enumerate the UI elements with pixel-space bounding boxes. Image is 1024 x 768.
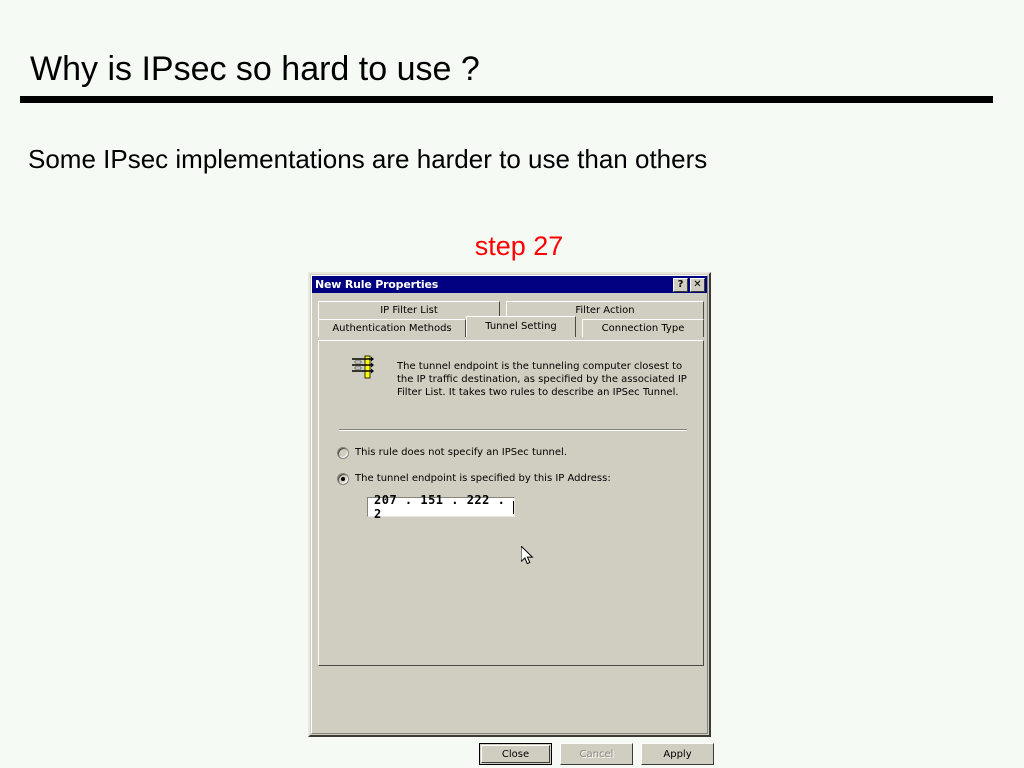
radio-option-label: This rule does not specify an IPSec tunn… bbox=[355, 447, 567, 459]
tab-tunnel-setting[interactable]: Tunnel Setting bbox=[466, 316, 576, 337]
dialog-button-row: Close Cancel Apply bbox=[479, 743, 715, 765]
new-rule-properties-dialog: New Rule Properties ? ✕ IP Filter List F… bbox=[308, 272, 711, 737]
tab-label: IP Filter List bbox=[380, 305, 438, 316]
slide-title: Why is IPsec so hard to use ? bbox=[30, 50, 480, 89]
radio-button-icon[interactable] bbox=[337, 473, 349, 485]
tunnel-arrows-icon bbox=[349, 354, 375, 380]
section-divider bbox=[339, 429, 687, 431]
close-button[interactable]: Close bbox=[479, 743, 552, 765]
text-caret bbox=[513, 501, 514, 514]
tab-connection-type[interactable]: Connection Type bbox=[582, 319, 704, 337]
button-label: Close bbox=[502, 749, 529, 760]
tab-label: Connection Type bbox=[602, 323, 685, 334]
dialog-title-text: New Rule Properties bbox=[315, 278, 671, 291]
title-divider-rule bbox=[20, 96, 993, 103]
tab-label: Tunnel Setting bbox=[485, 321, 557, 332]
dialog-titlebar[interactable]: New Rule Properties ? ✕ bbox=[312, 276, 707, 293]
ip-address-value: 207 . 151 . 222 . 2 bbox=[374, 493, 512, 521]
tab-label: Authentication Methods bbox=[332, 323, 451, 334]
tunnel-setting-panel: The tunnel endpoint is the tunneling com… bbox=[318, 340, 704, 666]
radio-option-no-tunnel[interactable]: This rule does not specify an IPSec tunn… bbox=[337, 447, 567, 459]
tunnel-description-text: The tunnel endpoint is the tunneling com… bbox=[397, 360, 693, 399]
radio-option-label: The tunnel endpoint is specified by this… bbox=[355, 473, 611, 485]
slide-subtitle: Some IPsec implementations are harder to… bbox=[28, 144, 707, 175]
apply-button[interactable]: Apply bbox=[641, 743, 714, 765]
radio-option-tunnel-endpoint[interactable]: The tunnel endpoint is specified by this… bbox=[337, 473, 611, 485]
ip-address-input[interactable]: 207 . 151 . 222 . 2 bbox=[367, 497, 515, 517]
tab-row-bottom: Authentication Methods Tunnel Setting Co… bbox=[318, 319, 704, 337]
tab-label: Filter Action bbox=[575, 305, 634, 316]
help-button[interactable]: ? bbox=[673, 278, 688, 292]
button-label: Cancel bbox=[580, 749, 614, 760]
step-label: step 27 bbox=[0, 231, 1024, 262]
button-label: Apply bbox=[663, 749, 691, 760]
tab-authentication-methods[interactable]: Authentication Methods bbox=[318, 319, 466, 337]
radio-button-icon[interactable] bbox=[337, 447, 349, 459]
tab-strip: IP Filter List Filter Action Authenticat… bbox=[318, 301, 704, 342]
close-icon[interactable]: ✕ bbox=[690, 278, 705, 292]
cancel-button: Cancel bbox=[560, 743, 633, 765]
